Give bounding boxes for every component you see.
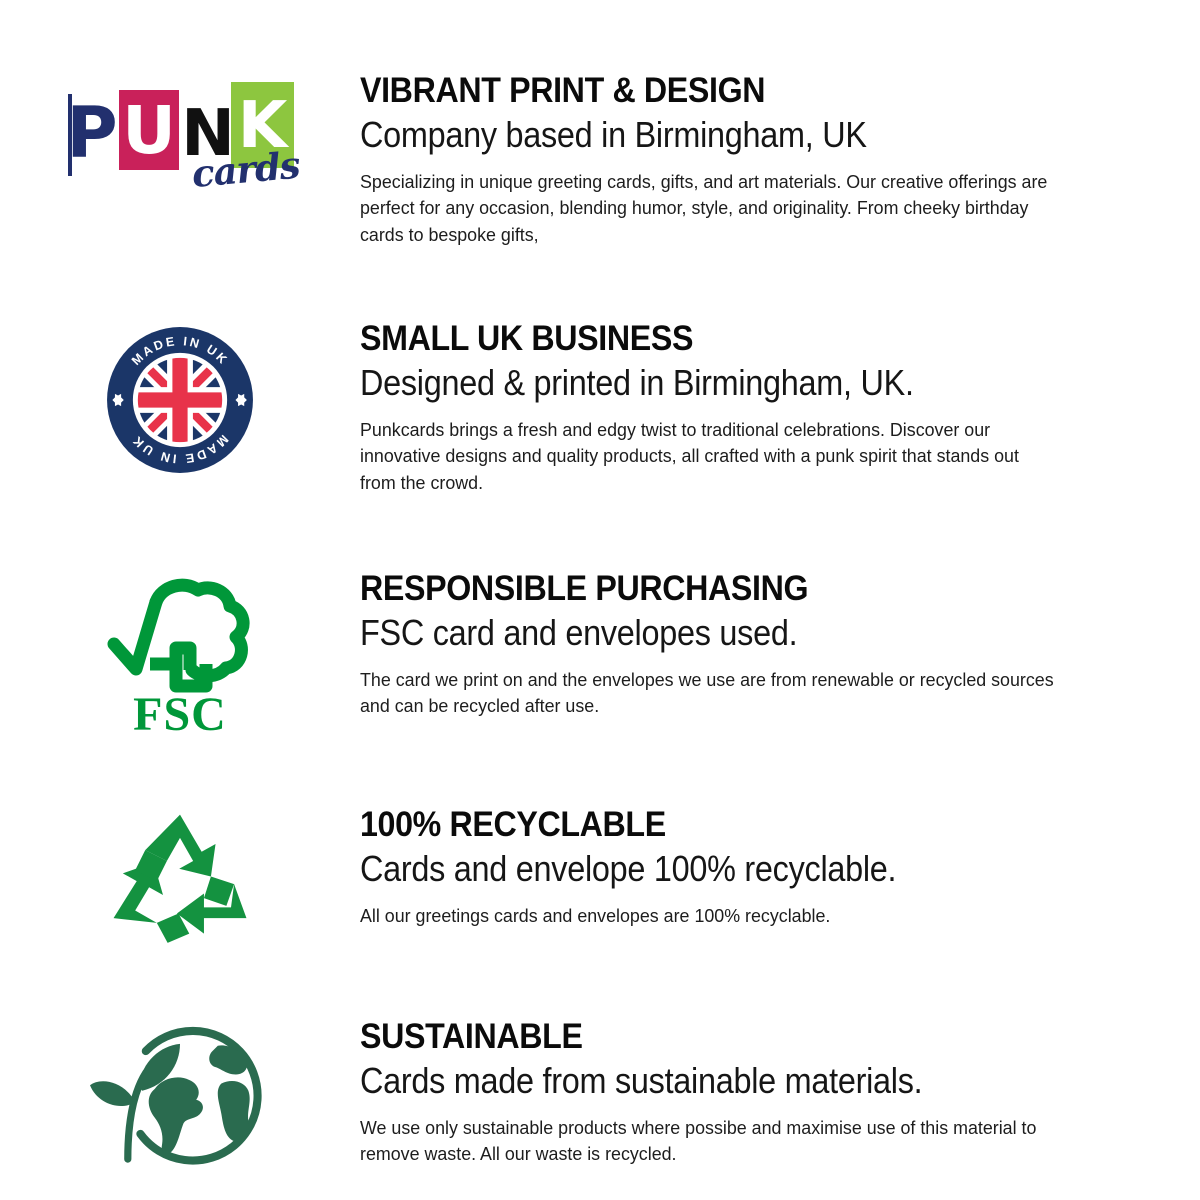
feature-row: SUSTAINABLE Cards made from sustainable …	[0, 946, 1200, 1172]
recycle-symbol-icon	[102, 810, 258, 946]
feature-icon-cell: FSC	[0, 570, 360, 736]
feature-icon-cell	[0, 806, 360, 946]
feature-icon-cell: MADE IN UK MADE IN UK	[0, 320, 360, 476]
globe-continent-east	[218, 1081, 250, 1142]
feature-body: We use only sustainable products where p…	[360, 1115, 1055, 1168]
feature-body: All our greetings cards and envelopes ar…	[360, 903, 1055, 929]
punkcards-script-word: cards	[190, 143, 301, 196]
feature-subtitle: Company based in Birmingham, UK	[360, 113, 1008, 157]
feature-icon-cell: P U N K cards	[0, 72, 360, 194]
feature-text-cell: RESPONSIBLE PURCHASING FSC card and enve…	[360, 570, 1100, 720]
punkcards-logo: P U N K cards	[64, 76, 296, 194]
features-page: P U N K cards VIBRANT PRINT & DESIGN Com…	[0, 0, 1200, 1200]
feature-subtitle: Cards and envelope 100% recyclable.	[360, 847, 1008, 891]
feature-title: SMALL UK BUSINESS	[360, 320, 1022, 358]
feature-text-cell: SUSTAINABLE Cards made from sustainable …	[360, 1018, 1100, 1168]
feature-text-cell: VIBRANT PRINT & DESIGN Company based in …	[360, 72, 1100, 248]
feature-body: Punkcards brings a fresh and edgy twist …	[360, 417, 1055, 496]
feature-row: P U N K cards VIBRANT PRINT & DESIGN Com…	[0, 0, 1200, 248]
punk-letter-u: U	[119, 98, 179, 164]
feature-subtitle: Designed & printed in Birmingham, UK.	[360, 361, 1008, 405]
feature-row: 100% RECYCLABLE Cards and envelope 100% …	[0, 736, 1200, 946]
feature-text-cell: 100% RECYCLABLE Cards and envelope 100% …	[360, 806, 1100, 929]
fsc-logo-icon: FSC	[106, 574, 254, 736]
feature-subtitle: FSC card and envelopes used.	[360, 611, 1008, 655]
feature-body: The card we print on and the envelopes w…	[360, 667, 1055, 720]
feature-row: FSC RESPONSIBLE PURCHASING FSC card and …	[0, 496, 1200, 736]
feature-text-cell: SMALL UK BUSINESS Designed & printed in …	[360, 320, 1100, 496]
fsc-label: FSC	[133, 688, 227, 736]
feature-row: MADE IN UK MADE IN UK SMALL UK BUSINESS …	[0, 248, 1200, 496]
punk-letter-p: P	[66, 98, 118, 168]
feature-icon-cell	[0, 1018, 360, 1172]
sprout-leaf-left	[90, 1081, 133, 1106]
globe-sprout-icon	[90, 1022, 270, 1172]
feature-title: VIBRANT PRINT & DESIGN	[360, 72, 1022, 110]
feature-title: 100% RECYCLABLE	[360, 806, 1022, 844]
feature-body: Specializing in unique greeting cards, g…	[360, 169, 1055, 248]
made-in-uk-badge-icon: MADE IN UK MADE IN UK	[104, 324, 256, 476]
feature-title: RESPONSIBLE PURCHASING	[360, 570, 1022, 608]
feature-subtitle: Cards made from sustainable materials.	[360, 1059, 1008, 1103]
feature-title: SUSTAINABLE	[360, 1018, 1022, 1056]
globe-continent-africa	[149, 1078, 203, 1155]
